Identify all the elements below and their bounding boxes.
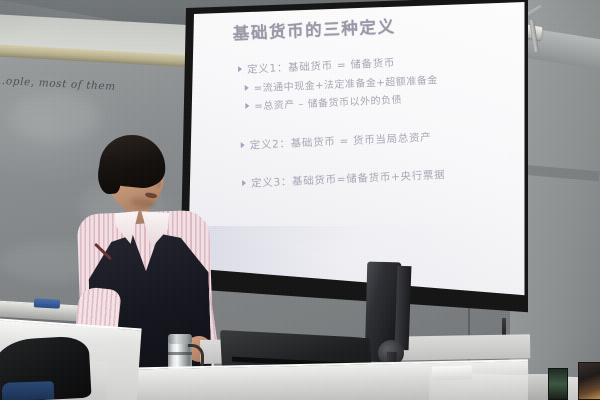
board-smudge	[10, 92, 100, 142]
poster-photo	[548, 368, 568, 400]
lecture-photo: ...ople, most of them Mustang 基础货币的三种定义 …	[0, 0, 600, 400]
poster-box	[578, 362, 600, 400]
white-box	[528, 374, 550, 400]
thermos-cap[interactable]	[168, 334, 192, 344]
chair-armrest[interactable]	[2, 381, 55, 400]
blue-marker[interactable]	[34, 298, 60, 308]
paper-stack[interactable]	[432, 365, 472, 380]
monitor-side-edge	[395, 266, 412, 350]
presenter-hair-side	[97, 155, 122, 194]
